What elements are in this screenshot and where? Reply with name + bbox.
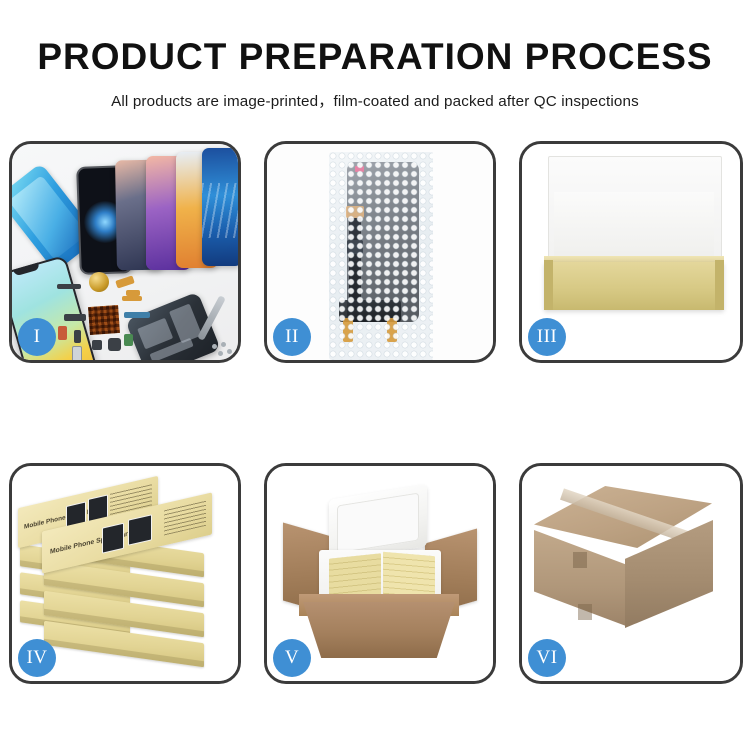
part-icon xyxy=(58,326,67,340)
bubbles-overlay xyxy=(329,152,433,360)
step-badge-1: I xyxy=(18,318,56,356)
carton-seam xyxy=(573,552,587,568)
foam-sheet-icon xyxy=(554,192,714,266)
step-panel-2[interactable]: II xyxy=(264,141,496,363)
coil-icon xyxy=(89,272,109,292)
step-panel-5[interactable]: V xyxy=(264,463,496,684)
header: PRODUCT PREPARATION PROCESS All products… xyxy=(0,0,750,111)
step-panel-1[interactable]: I xyxy=(9,141,241,363)
bubble-wrap-bag-icon xyxy=(329,152,433,360)
box-flap-right xyxy=(715,260,724,310)
step-panel-6[interactable]: VI xyxy=(519,463,743,684)
step-badge-2: II xyxy=(273,318,311,356)
part-icon xyxy=(57,284,81,289)
part-icon xyxy=(72,346,82,362)
chip-grid-icon xyxy=(88,305,120,335)
part-icon xyxy=(74,330,81,343)
steps-grid: I II xyxy=(0,138,750,698)
part-icon xyxy=(124,312,150,318)
part-icon xyxy=(108,338,121,351)
carton-seam xyxy=(578,604,592,620)
screws-icon xyxy=(212,342,234,358)
step-badge-4: IV xyxy=(18,639,56,677)
step-panel-3[interactable]: III xyxy=(519,141,743,363)
phone-blue-icon xyxy=(202,148,241,266)
box-spec-lines xyxy=(164,500,206,536)
step-panel-4[interactable]: Mobile Phone Spare Parts Mobile Phone Sp… xyxy=(9,463,241,684)
box-flap-left xyxy=(544,260,553,310)
part-icon xyxy=(64,314,86,321)
carton-body-icon xyxy=(303,602,455,658)
product-preparation-infographic: PRODUCT PREPARATION PROCESS All products… xyxy=(0,0,750,750)
step-badge-5: V xyxy=(273,639,311,677)
page-title: PRODUCT PREPARATION PROCESS xyxy=(0,38,750,75)
part-icon xyxy=(122,296,142,301)
yellow-inner-box-icon xyxy=(544,262,724,310)
step-badge-6: VI xyxy=(528,639,566,677)
page-subtitle: All products are image-printed，film-coat… xyxy=(0,89,750,111)
part-icon xyxy=(92,340,102,350)
part-icon xyxy=(115,275,135,288)
part-icon xyxy=(124,334,133,346)
step-badge-3: III xyxy=(528,318,566,356)
